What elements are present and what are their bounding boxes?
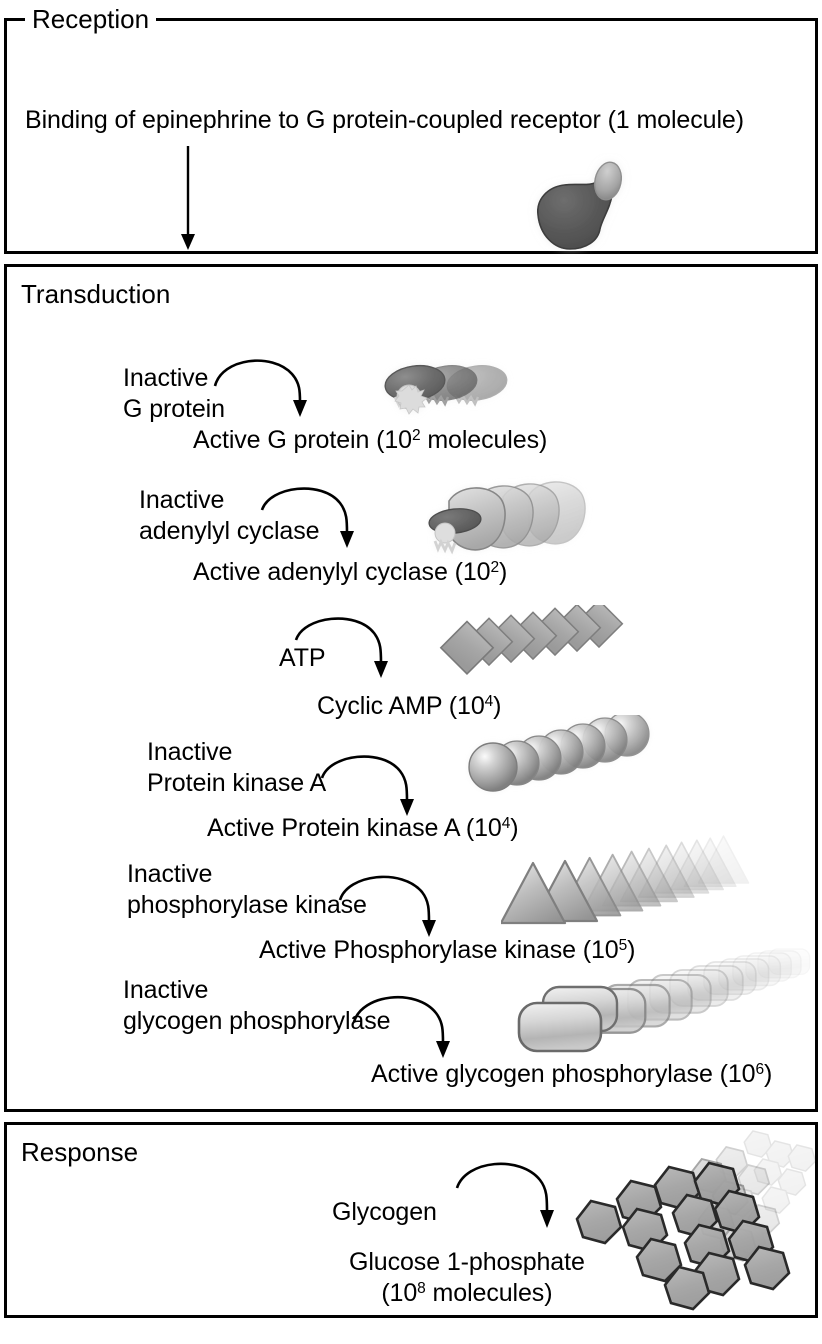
reception-panel: Reception Binding of epinephrine to G pr…	[4, 18, 818, 254]
step-5-reactant: Inactive phosphorylase kinase	[127, 859, 367, 921]
transduction-panel: Transduction Inactive G protein Active G…	[4, 264, 818, 1112]
phosphorylase-kinase-triangle-icon	[501, 833, 751, 931]
glycogen-hexagon-lattice-icon	[547, 1125, 821, 1315]
response-reactant: Glycogen	[332, 1197, 437, 1227]
atp-diamond-icon	[435, 605, 650, 677]
g-protein-cluster-icon	[381, 355, 531, 425]
reception-panel-label: Reception	[25, 4, 156, 34]
receptor-blob-icon	[516, 153, 646, 263]
signal-transduction-diagram: Reception Binding of epinephrine to G pr…	[0, 0, 822, 1344]
glycogen-phosphorylase-capsule-icon	[513, 947, 822, 1057]
step-4-reactant: Inactive Protein kinase A	[147, 737, 326, 799]
reception-binding-text: Binding of epinephrine to G protein-coup…	[25, 105, 744, 135]
transduction-panel-label: Transduction	[21, 279, 170, 309]
step-3-reactant: ATP	[279, 643, 325, 673]
step-2-reactant: Inactive adenylyl cyclase	[139, 485, 319, 547]
step-4-product: Active Protein kinase A (104)	[207, 813, 518, 847]
step-1-reactant: Inactive G protein	[123, 363, 225, 425]
response-panel: Response Glycogen Glucose 1-phosphate (1…	[4, 1122, 818, 1318]
step-6-reactant: Inactive glycogen phosphorylase	[123, 975, 390, 1037]
step-1-product: Active G protein (102 molecules)	[193, 425, 547, 459]
protein-kinase-sphere-icon	[465, 715, 665, 799]
response-panel-label: Response	[21, 1137, 138, 1167]
adenylyl-cyclase-fan-icon	[427, 471, 607, 567]
step-6-product: Active glycogen phosphorylase (106)	[371, 1059, 772, 1093]
